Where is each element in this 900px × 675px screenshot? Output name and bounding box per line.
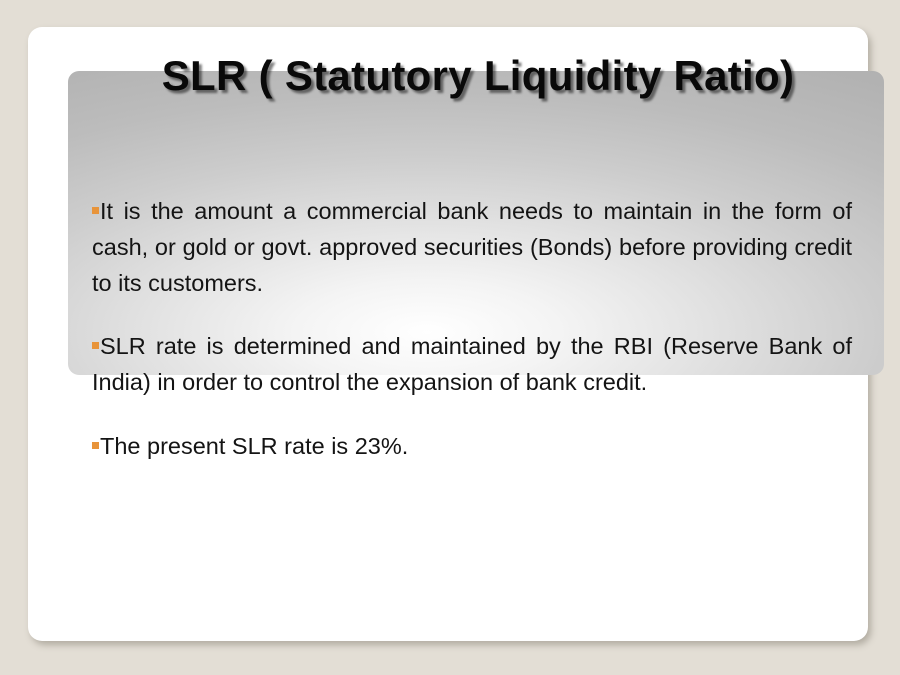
slide-body: It is the amount a commercial bank needs… <box>92 193 852 464</box>
square-bullet-icon <box>92 342 99 349</box>
square-bullet-icon <box>92 442 99 449</box>
list-item-text: It is the amount a commercial bank needs… <box>92 198 852 296</box>
page-title: SLR ( Statutory Liquidity Ratio) <box>88 51 868 101</box>
paragraph-spacer <box>92 418 852 428</box>
list-item: The present SLR rate is 23%. <box>92 428 852 464</box>
list-item: It is the amount a commercial bank needs… <box>92 193 852 301</box>
list-item: SLR rate is determined and maintained by… <box>92 328 852 400</box>
list-item-text: The present SLR rate is 23%. <box>100 433 408 459</box>
list-item-text: SLR rate is determined and maintained by… <box>92 333 852 395</box>
paragraph-spacer <box>92 319 852 328</box>
slide-card: SLR ( Statutory Liquidity Ratio) It is t… <box>28 27 868 641</box>
square-bullet-icon <box>92 207 99 214</box>
slide-root: SLR ( Statutory Liquidity Ratio) It is t… <box>0 0 900 675</box>
